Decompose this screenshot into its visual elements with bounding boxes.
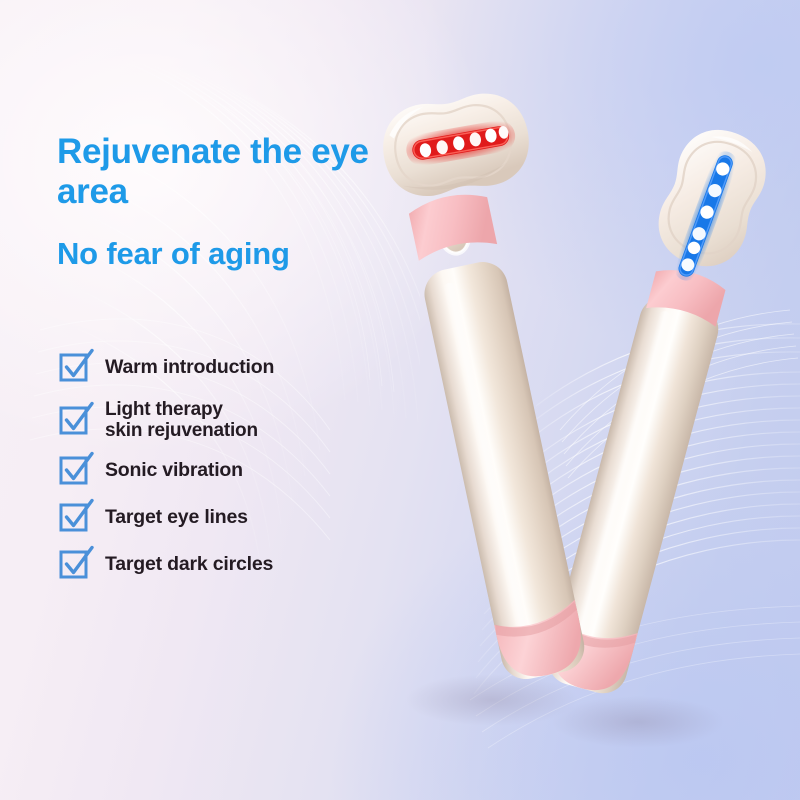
promo-image-canvas: Rejuvenate the eye area No fear of aging… [0, 0, 800, 800]
product-photo-group [0, 0, 800, 800]
device-blue-light-wand [543, 118, 777, 698]
device-red-light-wand [376, 87, 589, 684]
